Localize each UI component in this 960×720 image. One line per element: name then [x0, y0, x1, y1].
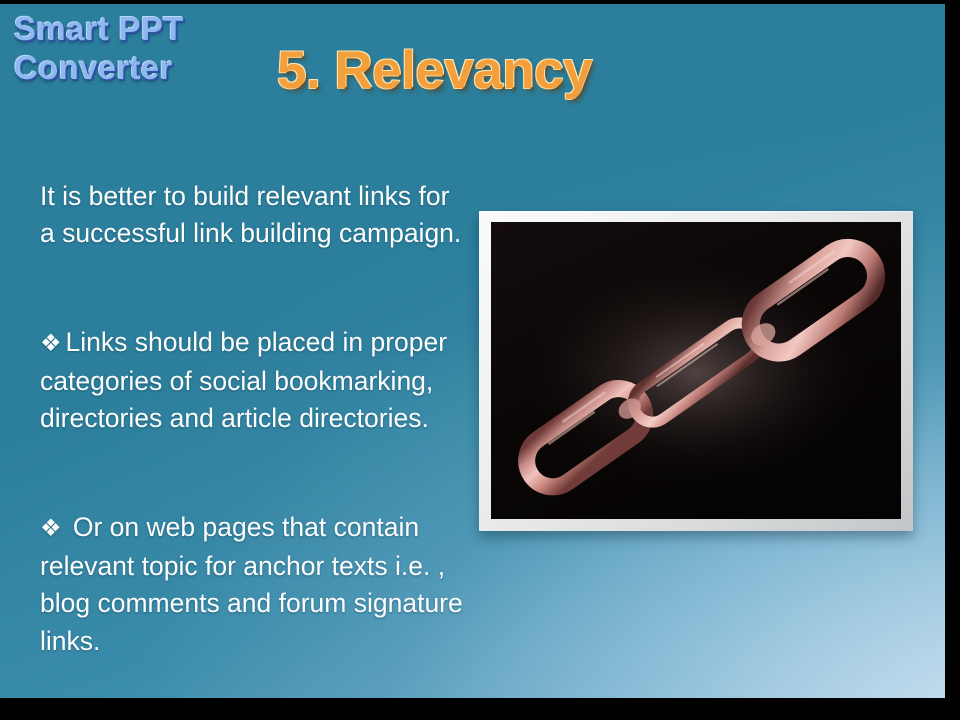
- chain-link-image: [491, 222, 901, 519]
- page-title: 5. Relevancy: [277, 40, 592, 101]
- letterbox-bar-right: [945, 0, 960, 720]
- paragraph-intro-text: It is better to build relevant links for…: [40, 181, 461, 249]
- bullet-item-web-pages: ❖ Or on web pages that contain relevant …: [40, 472, 470, 661]
- bullet-item-categories: ❖Links should be placed in proper catego…: [40, 287, 470, 438]
- video-player-frame: Smart PPT Converter 5. Relevancy It is b…: [0, 0, 960, 720]
- presentation-slide: Smart PPT Converter 5. Relevancy It is b…: [0, 4, 945, 698]
- picture-inner: [491, 222, 901, 519]
- slide-header: Smart PPT Converter 5. Relevancy: [0, 4, 945, 122]
- brand-logo: Smart PPT Converter: [14, 10, 270, 87]
- bullet-item-categories-text: Links should be placed in proper categor…: [40, 327, 447, 433]
- bullet-item-web-pages-text: Or on web pages that contain relevant to…: [40, 512, 463, 656]
- diamond-bullet-icon: ❖: [40, 330, 66, 357]
- slide-body-text: It is better to build relevant links for…: [40, 140, 470, 660]
- picture-frame: [479, 211, 913, 531]
- diamond-bullet-icon: ❖: [40, 515, 66, 542]
- letterbox-bar-bottom: [0, 698, 960, 720]
- paragraph-intro: It is better to build relevant links for…: [40, 140, 470, 253]
- letterbox-bar-top: [0, 0, 960, 4]
